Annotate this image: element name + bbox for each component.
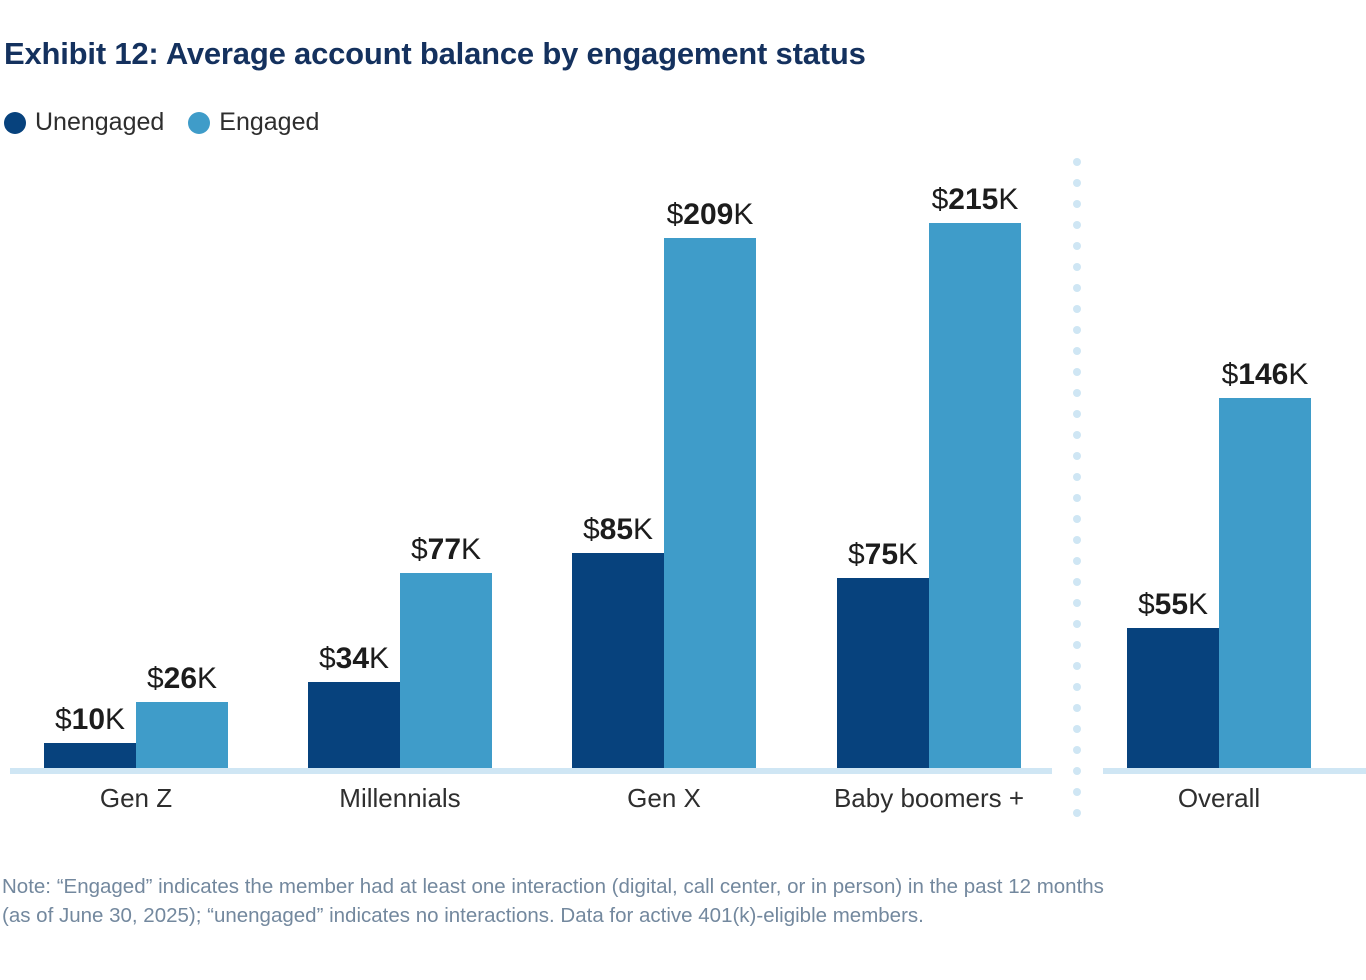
- bar-millennials-engaged[interactable]: $77K: [400, 573, 492, 768]
- bar-label-genz-engaged: $26K: [147, 664, 217, 702]
- group-divider-dotted: [1073, 158, 1081, 830]
- category-label-genz: Gen Z: [44, 784, 228, 813]
- bar-babyboomers-unengaged[interactable]: $75K: [837, 578, 929, 768]
- bar-babyboomers-engaged[interactable]: $215K: [929, 223, 1021, 768]
- bar-genz-unengaged[interactable]: $10K: [44, 743, 136, 768]
- bar-label-overall-engaged: $146K: [1222, 360, 1309, 398]
- axis-baseline-right: [1103, 768, 1366, 774]
- bar-label-millennials-unengaged: $34K: [319, 644, 389, 682]
- category-label-genx: Gen X: [572, 784, 756, 813]
- bar-label-babyboomers-engaged: $215K: [932, 185, 1019, 223]
- bar-label-genx-unengaged: $85K: [583, 515, 653, 553]
- bar-genx-engaged[interactable]: $209K: [664, 238, 756, 768]
- bar-label-overall-unengaged: $55K: [1138, 590, 1208, 628]
- chart-figure: Exhibit 12: Average account balance by e…: [0, 0, 1366, 980]
- bar-label-genx-engaged: $209K: [667, 200, 754, 238]
- footnote-line-1: Note: “Engaged” indicates the member had…: [2, 872, 1358, 901]
- footnote-line-2: (as of June 30, 2025); “unengaged” indic…: [2, 901, 1358, 930]
- category-label-millennials: Millennials: [308, 784, 492, 813]
- bar-label-genz-unengaged: $10K: [55, 705, 125, 743]
- bar-genx-unengaged[interactable]: $85K: [572, 553, 664, 768]
- category-label-overall: Overall: [1127, 784, 1311, 813]
- bar-genz-engaged[interactable]: $26K: [136, 702, 228, 768]
- plot-area: $10K $26K Gen Z $34K $77K Millennials $8…: [0, 0, 1366, 980]
- bar-millennials-unengaged[interactable]: $34K: [308, 682, 400, 768]
- bar-overall-engaged[interactable]: $146K: [1219, 398, 1311, 768]
- axis-baseline-left: [10, 768, 1052, 774]
- chart-footnote: Note: “Engaged” indicates the member had…: [2, 872, 1358, 930]
- bar-label-millennials-engaged: $77K: [411, 535, 481, 573]
- bar-overall-unengaged[interactable]: $55K: [1127, 628, 1219, 768]
- category-label-babyboomers: Baby boomers +: [791, 784, 1067, 813]
- bar-label-babyboomers-unengaged: $75K: [848, 540, 918, 578]
